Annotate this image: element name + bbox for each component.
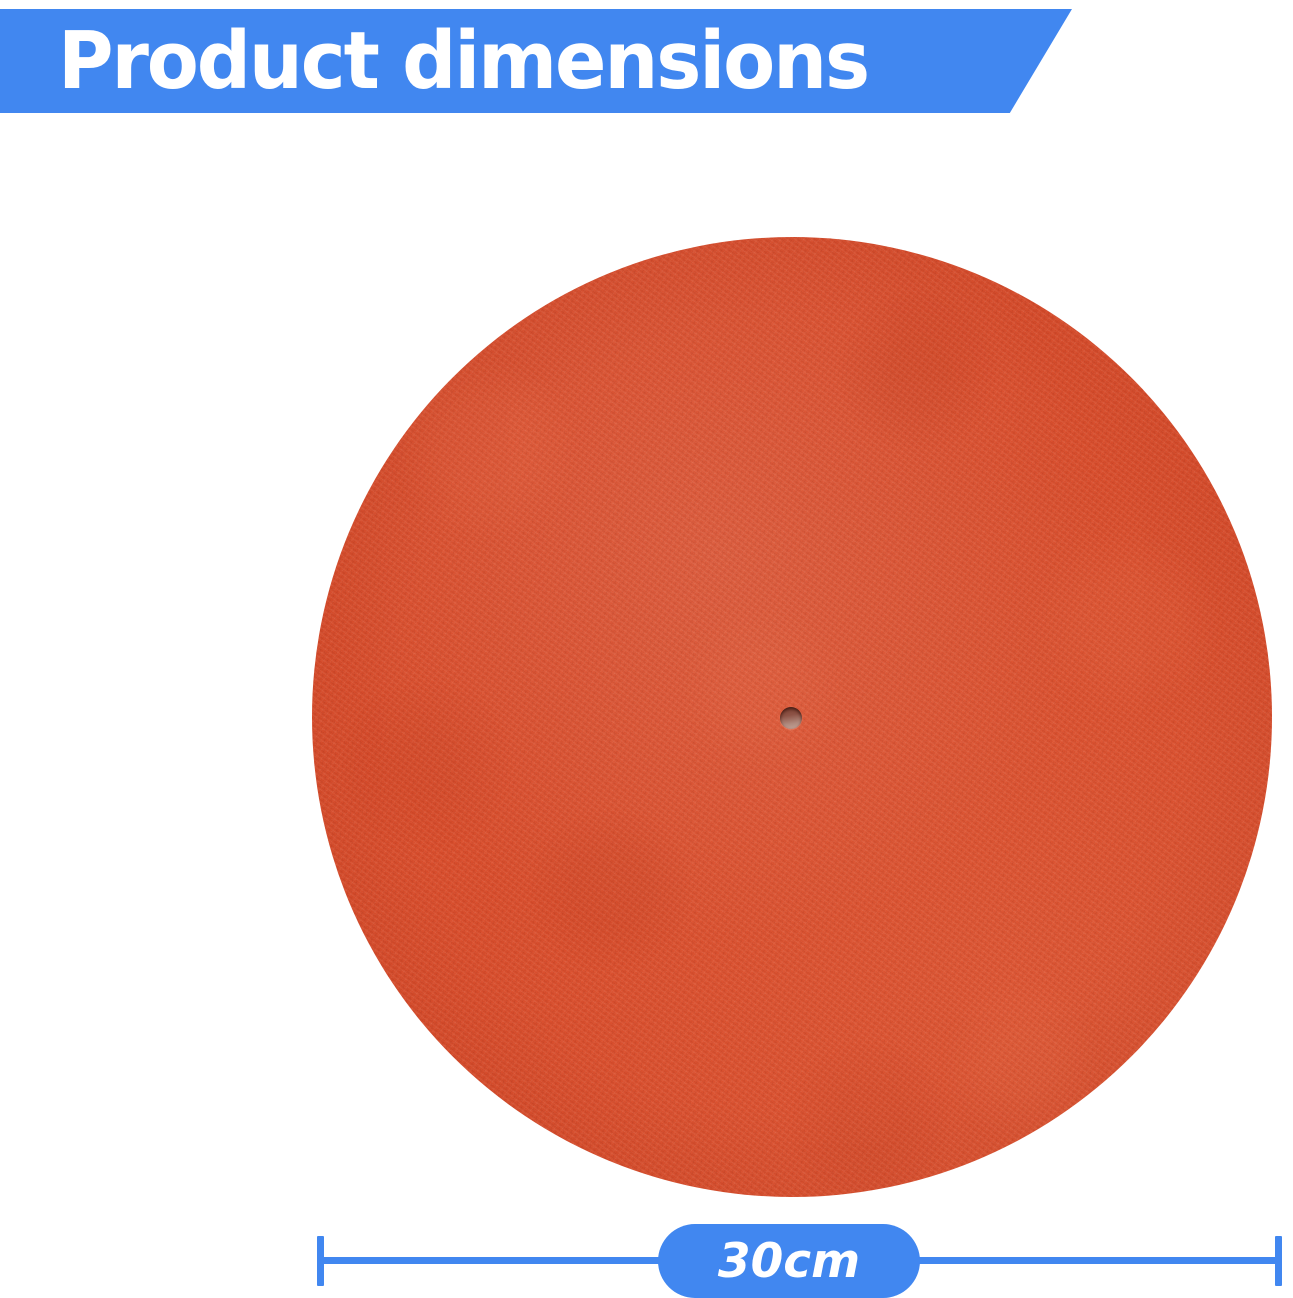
page-title: Product dimensions — [58, 22, 868, 101]
dimension-tick-right — [1275, 1236, 1282, 1286]
dimension-measure-bar: 30cm — [317, 1236, 1282, 1286]
dimension-label-pill: 30cm — [658, 1224, 920, 1298]
product-disc-image — [312, 237, 1272, 1197]
product-image-stage — [0, 113, 1293, 1213]
spindle-hole — [780, 707, 802, 729]
header-banner: Product dimensions — [0, 9, 1072, 113]
dimension-label-text: 30cm — [718, 1238, 860, 1285]
